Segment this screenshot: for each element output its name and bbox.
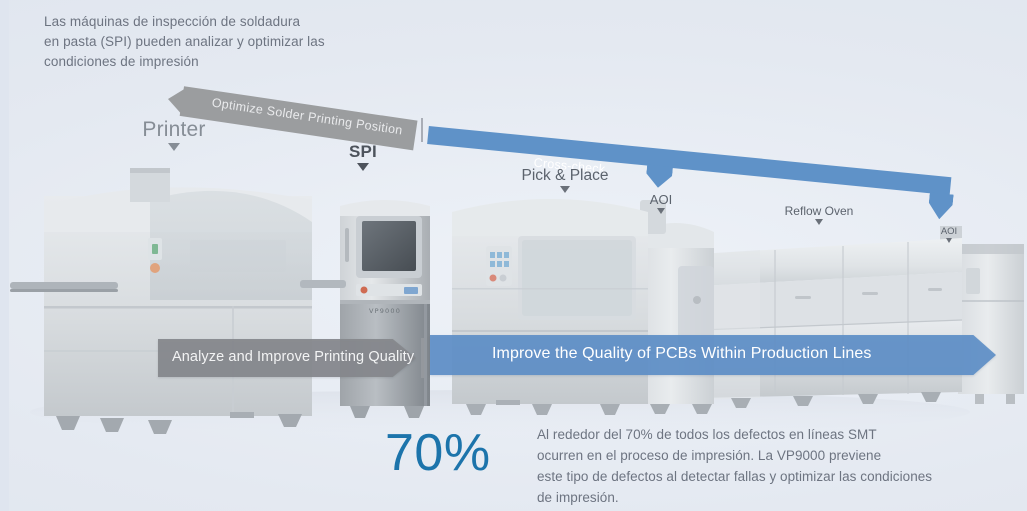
callout-reflow-oven: Reflow Oven (764, 204, 874, 225)
stat-percentage: 70% (385, 427, 491, 479)
callout-aoi-2-label: AOI (925, 226, 973, 237)
callout-spi: SPI (318, 142, 408, 171)
callout-pick-and-place-label: Pick & Place (500, 167, 630, 185)
machine-spi-vp9000: VP9000 (340, 200, 430, 418)
machine-reflow-oven (700, 238, 962, 408)
callout-aoi-2: AOI (925, 226, 973, 243)
gray-banner-label: Analyze and Improve Printing Quality (172, 349, 414, 365)
caret-down-icon (657, 208, 665, 214)
callout-aoi-1: AOI (628, 192, 694, 214)
stat-description: Al rededor del 70% de todos los defectos… (537, 424, 999, 508)
callout-spi-label: SPI (318, 142, 408, 162)
flow-divider-tick (421, 118, 423, 142)
caret-down-icon (946, 238, 952, 243)
caret-down-icon (357, 163, 369, 171)
callout-pick-and-place: Pick & Place (500, 167, 630, 193)
analyze-printing-quality-banner: Analyze and Improve Printing Quality (158, 339, 416, 377)
svg-text:VP9000: VP9000 (369, 307, 401, 315)
blue-banner-label: Improve the Quality of PCBs Within Produ… (492, 345, 872, 363)
improve-pcb-quality-banner: Improve the Quality of PCBs Within Produ… (430, 335, 996, 375)
infographic-canvas: VP9000 (0, 0, 1027, 511)
banner-divider (421, 338, 424, 378)
callout-reflow-oven-label: Reflow Oven (764, 204, 874, 218)
caret-down-icon (168, 143, 180, 151)
callout-aoi-1-label: AOI (628, 192, 694, 207)
callout-printer: Printer (104, 118, 244, 151)
machine-pick-and-place (452, 199, 648, 415)
intro-paragraph: Las máquinas de inspección de soldadura … (44, 12, 394, 72)
machine-printer (10, 168, 346, 434)
caret-down-icon (815, 219, 823, 225)
callout-printer-label: Printer (104, 118, 244, 142)
caret-down-icon (560, 186, 570, 193)
